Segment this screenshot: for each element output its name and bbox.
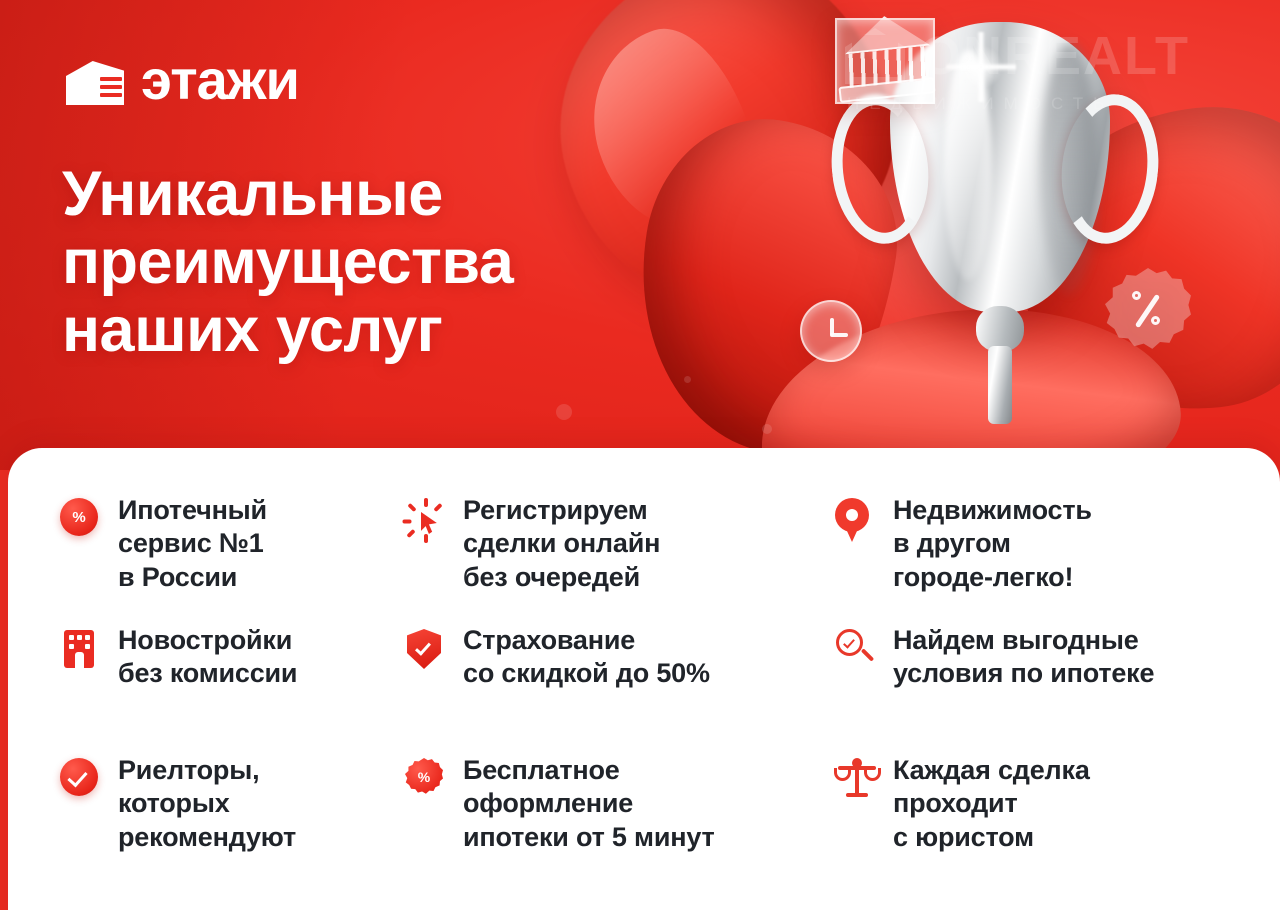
- benefits-grid: Ипотечный сервис №1 в России Регистрируе…: [60, 494, 1254, 884]
- benefit-item-best-mortgage-terms: Найдем выгодные условия по ипотеке: [835, 624, 1254, 754]
- percent-badge-icon: [1105, 268, 1191, 354]
- trophy-shadow: [1040, 44, 1098, 294]
- benefit-item-lawyer-support: Каждая сделка проходит с юристом: [835, 754, 1254, 884]
- bokeh-dot: [762, 424, 772, 434]
- headline-line-3: наших услуг: [62, 296, 513, 364]
- benefit-label: Новостройки без комиссии: [118, 624, 297, 691]
- benefit-item-mortgage-service: Ипотечный сервис №1 в России: [60, 494, 405, 624]
- bokeh-dot: [556, 404, 572, 420]
- benefits-card: Ипотечный сервис №1 в России Регистрируе…: [8, 448, 1280, 910]
- trophy-handle-left: [824, 89, 935, 248]
- check-circle-icon: [60, 758, 100, 798]
- brand-logo-text: этажи: [141, 52, 299, 108]
- trophy-neck: [976, 306, 1024, 352]
- bokeh-dot: [684, 376, 691, 383]
- benefit-item-free-mortgage-processing: Бесплатное оформление ипотеки от 5 минут: [405, 754, 835, 884]
- benefit-label: Регистрируем сделки онлайн без очередей: [463, 494, 660, 594]
- page-title: Уникальные преимущества наших услуг: [62, 160, 513, 364]
- brand-logo[interactable]: этажи: [66, 52, 299, 108]
- benefit-label: Недвижимость в другом городе-легко!: [893, 494, 1092, 594]
- red-silk-drape-3: [1005, 94, 1280, 427]
- hero-glow: [600, 0, 1280, 500]
- click-cursor-icon: [405, 498, 445, 538]
- benefit-item-other-city: Недвижимость в другом городе-легко!: [835, 494, 1254, 624]
- trophy-handle-right: [1054, 89, 1165, 248]
- promo-poster: ONREALT НЕДВИЖИМОСТЬ этажи Уникальные пр…: [0, 0, 1280, 910]
- sparkle-icon: [946, 32, 1016, 102]
- search-check-icon: [835, 628, 875, 668]
- red-silk-highlight: [569, 12, 773, 249]
- benefit-label: Риелторы, которых рекомендуют: [118, 754, 296, 854]
- trophy-gloss: [944, 50, 992, 280]
- map-pin-icon: [835, 498, 875, 538]
- benefit-label: Ипотечный сервис №1 в России: [118, 494, 267, 594]
- building-icon: [66, 55, 124, 105]
- benefit-item-recommended-realtors: Риелторы, которых рекомендуют: [60, 754, 405, 884]
- percent-dot-bottom: [1151, 316, 1160, 325]
- benefit-item-insurance: Страхование со скидкой до 50%: [405, 624, 835, 754]
- percent-dot-top: [1132, 291, 1141, 300]
- benefit-item-online-registration: Регистрируем сделки онлайн без очередей: [405, 494, 835, 624]
- scales-of-justice-icon: [835, 758, 875, 798]
- benefit-label: Бесплатное оформление ипотеки от 5 минут: [463, 754, 715, 854]
- trophy-stem: [988, 346, 1012, 424]
- benefit-label: Каждая сделка проходит с юристом: [893, 754, 1090, 854]
- watermark-name: ONREALT: [919, 29, 1190, 83]
- clock-icon: [800, 300, 862, 362]
- hero-banner: ONREALT НЕДВИЖИМОСТЬ этажи Уникальные пр…: [0, 0, 1280, 470]
- clock-minute-hand: [830, 333, 848, 337]
- benefit-item-new-buildings: Новостройки без комиссии: [60, 624, 405, 754]
- red-silk-drape-2: [616, 102, 915, 467]
- shield-check-icon: [405, 628, 445, 668]
- percent-badge-icon: [405, 758, 445, 798]
- new-building-icon: [60, 628, 100, 668]
- bank-icon: [835, 18, 935, 104]
- headline-line-2: преимущества: [62, 228, 513, 296]
- benefit-label: Страхование со скидкой до 50%: [463, 624, 710, 691]
- benefit-label: Найдем выгодные условия по ипотеке: [893, 624, 1154, 691]
- headline-line-1: Уникальные: [62, 160, 513, 228]
- percent-circle-icon: [60, 498, 100, 538]
